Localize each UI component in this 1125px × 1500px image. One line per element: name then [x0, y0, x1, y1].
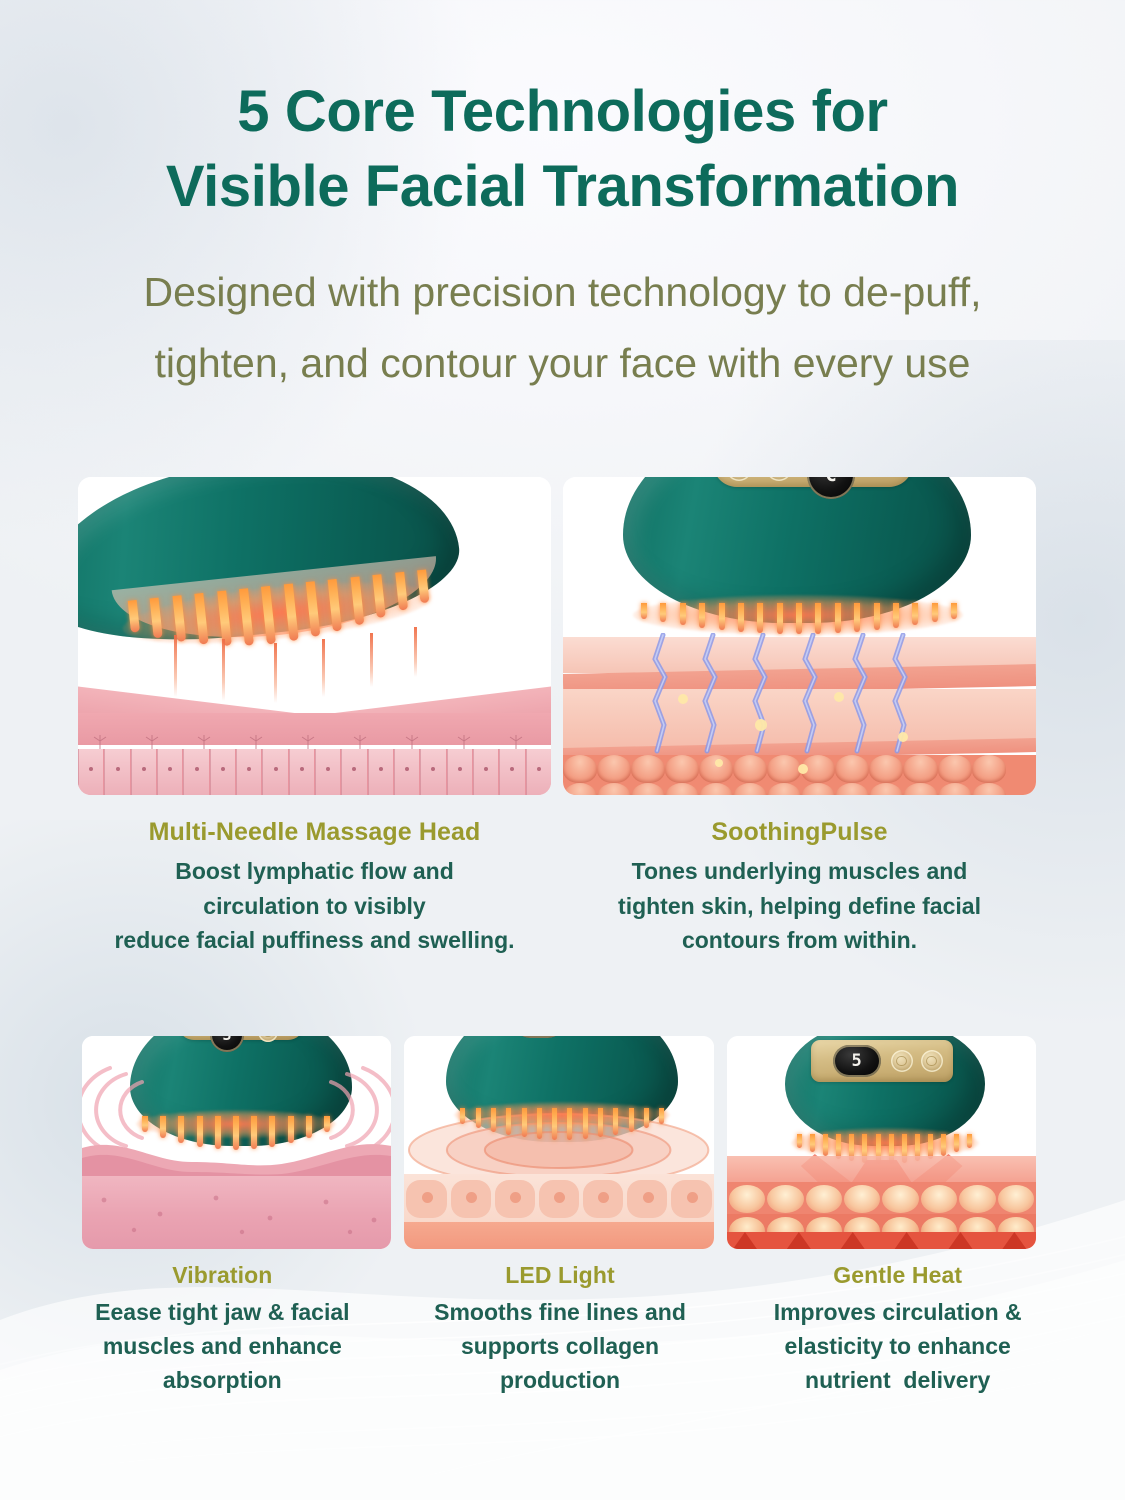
skin-cell-layer-icon [727, 1182, 1036, 1216]
skin-base-layer-icon [404, 1222, 713, 1249]
energy-sparkles-icon [653, 677, 933, 792]
page-title-line-1: 5 Core Technologies for [36, 74, 1089, 149]
caption-title: Multi-Needle Massage Head [78, 818, 551, 847]
caption-title: SoothingPulse [563, 818, 1036, 847]
power-button-icon[interactable] [921, 1050, 943, 1072]
caption-body-line: nutrient delivery [735, 1363, 1060, 1397]
caption-gentle-heat: Gentle Heat Improves circulation & elast… [735, 1262, 1060, 1397]
caption-multi-needle-massage-head: Multi-Needle Massage Head Boost lymphati… [78, 818, 551, 958]
caption-title: Vibration [60, 1262, 385, 1289]
caption-title: Gentle Heat [735, 1262, 1060, 1289]
feature-image-row-bottom: 3 [82, 1036, 1036, 1249]
illustration-soothing-pulse: C [563, 477, 1036, 795]
skin-surface-icon [82, 1132, 391, 1180]
skin-cell-layer-icon [404, 1174, 713, 1224]
illustration-led-light: 4 [404, 1036, 713, 1249]
page-title: 5 Core Technologies for Visible Facial T… [0, 74, 1125, 225]
page-subtitle-line-1: Designed with precision technology to de… [48, 257, 1077, 328]
skin-upper-layer-icon [727, 1156, 1036, 1184]
pulse-bristles-icon [641, 603, 957, 637]
feature-image-vibration: 3 [82, 1036, 391, 1249]
skin-hair-follicles-icon [78, 729, 551, 751]
caption-body-line: Smooths fine lines and [398, 1295, 723, 1329]
led-bristles-icon [460, 1108, 664, 1140]
caption-soothing-pulse: SoothingPulse Tones underlying muscles a… [563, 818, 1036, 958]
caption-body-line: contours from within. [563, 923, 1036, 958]
page-subtitle: Designed with precision technology to de… [0, 257, 1125, 399]
illustration-gentle-heat: 5 [727, 1036, 1036, 1249]
caption-body-line: Eease tight jaw & facial [60, 1295, 385, 1329]
illustration-vibration: 3 [82, 1036, 391, 1249]
caption-body: Improves circulation & elasticity to enh… [735, 1295, 1060, 1397]
caption-body-line: elasticity to enhance [735, 1329, 1060, 1363]
skin-texture-dots-icon [82, 1186, 391, 1242]
caption-vibration: Vibration Eease tight jaw & facial muscl… [60, 1262, 385, 1397]
caption-led-light: LED Light Smooths fine lines and support… [398, 1262, 723, 1397]
needle-ray-icon [414, 627, 417, 677]
caption-body: Boost lymphatic flow and circulation to … [78, 854, 551, 958]
skin-surface-icon [78, 673, 551, 717]
page-title-line-2: Visible Facial Transformation [36, 149, 1089, 224]
caption-body-line: muscles and enhance [60, 1329, 385, 1363]
feature-image-row-top: C [78, 477, 1036, 795]
caption-body-line: absorption [60, 1363, 385, 1397]
caption-body: Eease tight jaw & facial muscles and enh… [60, 1295, 385, 1397]
feature-image-soothing-pulse: C [563, 477, 1036, 795]
caption-body-line: supports collagen [398, 1329, 723, 1363]
caption-body: Tones underlying muscles and tighten ski… [563, 854, 1036, 958]
caption-body-line: tighten skin, helping define facial [563, 889, 1036, 924]
caption-body-line: reduce facial puffiness and swelling. [78, 923, 551, 958]
feature-image-led-light: 4 [404, 1036, 713, 1249]
feature-image-multi-needle-massage-head [78, 477, 551, 795]
feature-image-gentle-heat: 5 [727, 1036, 1036, 1249]
skin-vascular-layer-icon [727, 1232, 1036, 1249]
caption-body: Smooths fine lines and supports collagen… [398, 1295, 723, 1397]
caption-row-bottom: Vibration Eease tight jaw & facial muscl… [60, 1262, 1060, 1397]
heat-button-icon[interactable] [891, 1050, 913, 1072]
caption-title: LED Light [398, 1262, 723, 1289]
page-subtitle-line-2: tighten, and contour your face with ever… [48, 328, 1077, 399]
caption-body-line: Tones underlying muscles and [563, 854, 1036, 889]
page-header: 5 Core Technologies for Visible Facial T… [0, 74, 1125, 399]
caption-body-line: production [398, 1363, 723, 1397]
caption-body-line: Improves circulation & [735, 1295, 1060, 1329]
caption-body-line: circulation to visibly [78, 889, 551, 924]
caption-row-top: Multi-Needle Massage Head Boost lymphati… [78, 818, 1036, 958]
skin-cell-layer-icon [78, 749, 551, 795]
led-display-icon: 5 [833, 1045, 881, 1077]
caption-body-line: Boost lymphatic flow and [78, 854, 551, 889]
illustration-multi-needle [78, 477, 551, 795]
